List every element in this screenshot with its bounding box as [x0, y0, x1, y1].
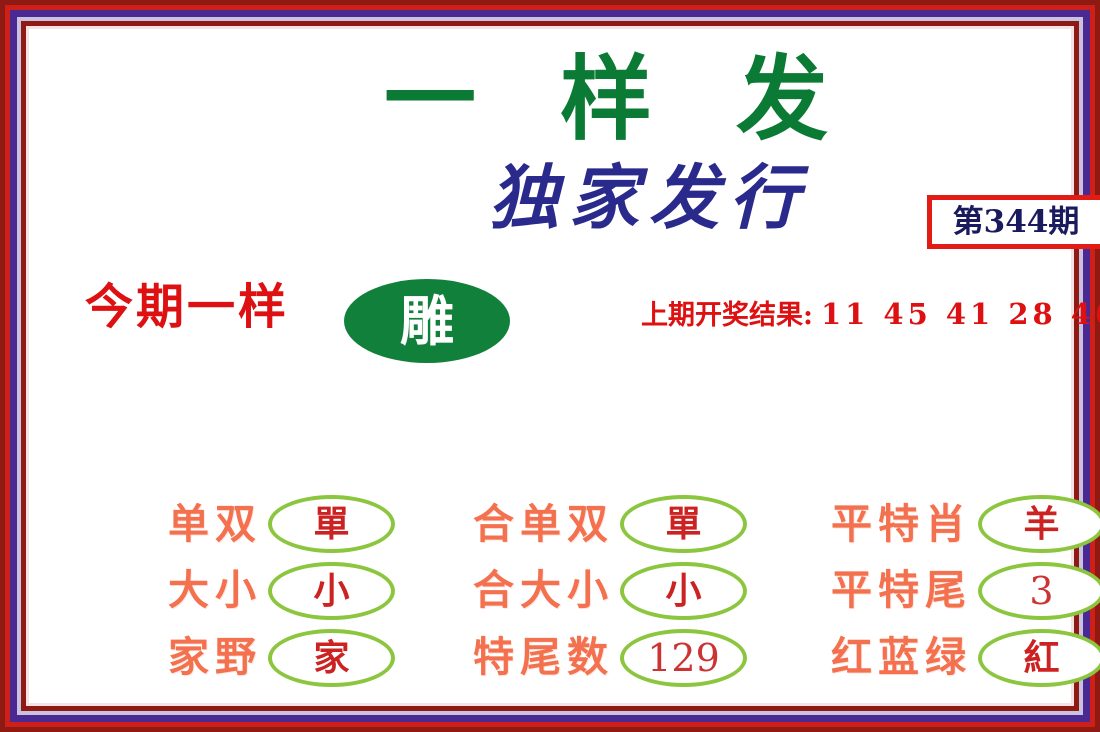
prediction-label: 合大小: [473, 570, 614, 611]
current-tip-value: 雕: [400, 294, 454, 348]
last-draw-label: 上期开奖结果:: [641, 293, 813, 332]
prediction-label: 家野: [168, 637, 262, 678]
prediction-value: 小: [313, 573, 349, 609]
prediction-value: 129: [647, 639, 720, 677]
poster-sub-title: 独家发行: [489, 163, 809, 233]
prediction-value: 紅: [1023, 640, 1059, 676]
prediction-oval: 單: [620, 495, 747, 553]
poster-main-title: 一 样 发: [319, 51, 919, 148]
prediction-oval: 小: [268, 562, 395, 620]
prediction-cell: 家野 家: [59, 625, 399, 691]
prediction-label: 特尾数: [473, 637, 614, 678]
prediction-cell: 合大小 小: [399, 558, 751, 624]
current-tip-oval: 雕: [344, 279, 510, 363]
prediction-oval: 家: [268, 629, 395, 687]
prediction-oval: 3: [978, 562, 1100, 620]
issue-number-text: 第344期: [953, 207, 1080, 238]
prediction-label: 平特尾: [831, 570, 972, 611]
prediction-value: 單: [313, 506, 349, 542]
prediction-cell: 平特尾 3: [751, 558, 1100, 624]
prediction-cell: 特尾数 129: [399, 625, 751, 691]
prediction-oval: 紅: [978, 629, 1100, 687]
prediction-value: 小: [665, 573, 701, 609]
prediction-cell: 大小 小: [59, 558, 399, 624]
poster-content-area: 一 样 发 独家发行 第344期 上期开奖结果: 11 45 41 28 46 …: [29, 29, 1071, 703]
prediction-cell: 单双 單: [59, 491, 399, 557]
prediction-value: 家: [313, 640, 349, 676]
prediction-label: 合单双: [473, 504, 614, 545]
prediction-label: 单双: [168, 504, 262, 545]
prediction-oval: 單: [268, 495, 395, 553]
prediction-oval: 羊: [978, 495, 1100, 553]
issue-number-badge: 第344期: [927, 195, 1100, 249]
prediction-label: 红蓝绿: [831, 637, 972, 678]
prediction-grid: 单双 單 合单双 單 平特肖 羊 大小 小: [59, 491, 1100, 691]
prediction-cell: 红蓝绿 紅: [751, 625, 1100, 691]
prediction-oval: 129: [620, 629, 747, 687]
prediction-oval: 小: [620, 562, 747, 620]
prediction-cell: 平特肖 羊: [751, 491, 1100, 557]
prediction-label: 大小: [168, 570, 262, 611]
prediction-value: 羊: [1023, 506, 1059, 542]
last-draw-result: 上期开奖结果: 11 45 41 28 46 35+38: [641, 293, 1100, 332]
prediction-label: 平特肖: [831, 504, 972, 545]
prediction-value: 單: [665, 506, 701, 542]
prediction-cell: 合单双 單: [399, 491, 751, 557]
current-tip-label: 今期一样: [85, 281, 289, 334]
last-draw-numbers: 11 45 41 28 46 35+38: [821, 297, 1100, 331]
prediction-value: 3: [1029, 572, 1053, 610]
lottery-poster: 一 样 发 独家发行 第344期 上期开奖结果: 11 45 41 28 46 …: [0, 0, 1100, 732]
